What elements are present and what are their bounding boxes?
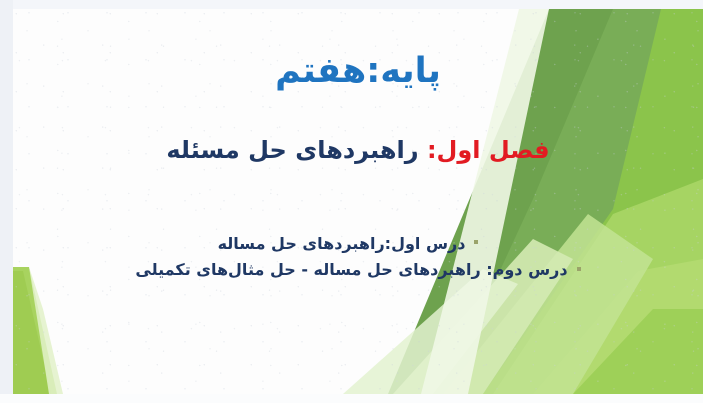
list-item-label: درس دوم: راهبردهای حل مساله - حل مثال‌ها…: [135, 257, 567, 283]
lesson-list: درس اول:راهبردهای حل مساله درس دوم: راهب…: [13, 231, 703, 284]
chapter-heading-navy: راهبردهای حل مسئله: [166, 136, 427, 164]
list-item-label: درس اول:راهبردهای حل مساله: [218, 231, 466, 257]
chapter-heading: فصل اول: راهبردهای حل مسئله: [13, 136, 703, 164]
bullet-dot-icon: [577, 267, 581, 271]
bullet-dot-icon: [474, 240, 478, 244]
slide-frame-top: [0, 0, 703, 9]
slide-frame-left: [0, 0, 13, 403]
slide-frame-bottom: [0, 394, 703, 403]
list-item: درس دوم: راهبردهای حل مساله - حل مثال‌ها…: [13, 257, 703, 283]
slide: پایه:هفتم فصل اول: راهبردهای حل مسئله در…: [0, 0, 703, 403]
slide-canvas: پایه:هفتم فصل اول: راهبردهای حل مسئله در…: [13, 9, 703, 394]
list-item: درس اول:راهبردهای حل مساله: [13, 231, 703, 257]
chapter-heading-red: فصل اول:: [427, 136, 550, 164]
slide-title: پایه:هفتم: [13, 51, 703, 91]
slide-content: پایه:هفتم فصل اول: راهبردهای حل مسئله در…: [13, 9, 703, 394]
